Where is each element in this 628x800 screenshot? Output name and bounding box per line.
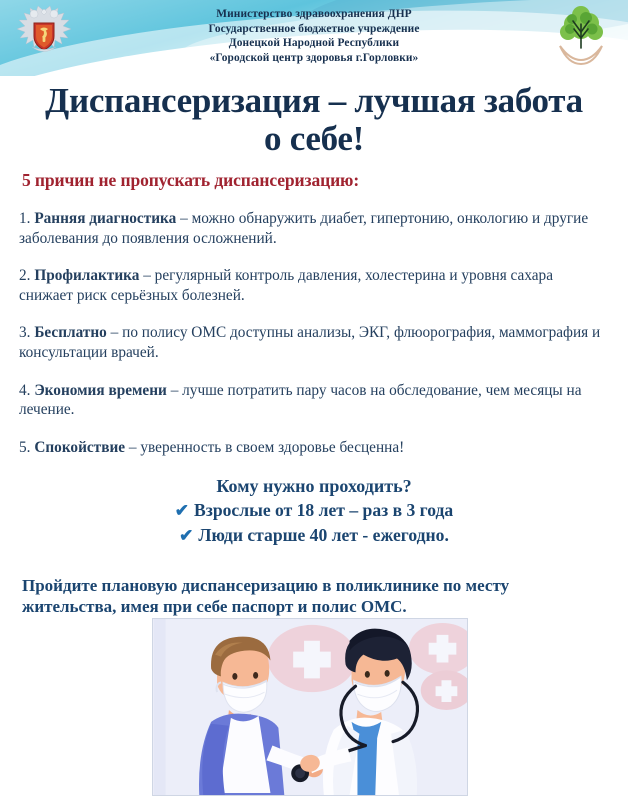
green-tree-in-hands-icon [548, 2, 614, 68]
org-line-4: «Городской центр здоровья г.Горловки» [0, 51, 628, 66]
doctor-examining-masked-patient-illustration [152, 618, 468, 796]
reason-body: – по полису ОМС доступны анализы, ЭКГ, ф… [19, 324, 600, 361]
eligibility-item: ✔Взрослые от 18 лет – раз в 3 года [0, 498, 628, 523]
reason-lead: Бесплатно [34, 324, 107, 341]
org-line-2: Государственное бюджетное учреждение [0, 22, 628, 37]
reason-number: 2. [19, 267, 30, 284]
reason-item: 1. Ранняя диагностика – можно обнаружить… [19, 209, 608, 248]
reasons-heading: 5 причин не пропускать диспансеризацию: [0, 170, 628, 191]
reason-item: 5. Спокойствие – уверенность в своем здо… [19, 438, 608, 458]
org-line-3: Донецкой Народной Республики [0, 36, 628, 51]
reason-item: 2. Профилактика – регулярный контроль да… [19, 266, 608, 305]
title-line-1: Диспансеризация – лучшая забота [45, 81, 583, 120]
reason-lead: Профилактика [34, 267, 139, 284]
header-band: Министерство здравоохранения ДНР Государ… [0, 0, 628, 76]
eligibility-item-label: Люди старше 40 лет - ежегодно. [198, 525, 448, 545]
dnr-emblem-double-headed-eagle-icon [12, 3, 76, 61]
reason-item: 4. Экономия времени – лучше потратить па… [19, 381, 608, 420]
reason-item: 3. Бесплатно – по полису ОМС доступны ан… [19, 323, 608, 362]
eligibility-section: Кому нужно проходить? ✔Взрослые от 18 ле… [0, 475, 628, 548]
reasons-list: 1. Ранняя диагностика – можно обнаружить… [0, 209, 628, 457]
reason-body: – уверенность в своем здоровье бесценна! [129, 439, 404, 456]
eligibility-heading: Кому нужно проходить? [0, 475, 628, 498]
page-title: Диспансеризация – лучшая забота о себе! [0, 82, 628, 158]
reason-number: 3. [19, 324, 30, 341]
title-line-2: о себе! [12, 120, 616, 158]
reason-lead: Спокойствие [34, 439, 125, 456]
call-to-action-text: Пройдите плановую диспансеризацию в поли… [0, 576, 628, 617]
reason-lead: Ранняя диагностика [34, 210, 176, 227]
reason-number: 5. [19, 439, 30, 456]
org-line-1: Министерство здравоохранения ДНР [0, 7, 628, 22]
check-icon: ✔ [179, 526, 193, 545]
reason-number: 1. [19, 210, 30, 227]
reason-lead: Экономия времени [34, 382, 167, 399]
check-icon: ✔ [175, 501, 189, 520]
organization-name: Министерство здравоохранения ДНР Государ… [0, 7, 628, 65]
eligibility-item-label: Взрослые от 18 лет – раз в 3 года [194, 500, 453, 520]
reason-number: 4. [19, 382, 30, 399]
eligibility-item: ✔Люди старше 40 лет - ежегодно. [0, 523, 628, 548]
